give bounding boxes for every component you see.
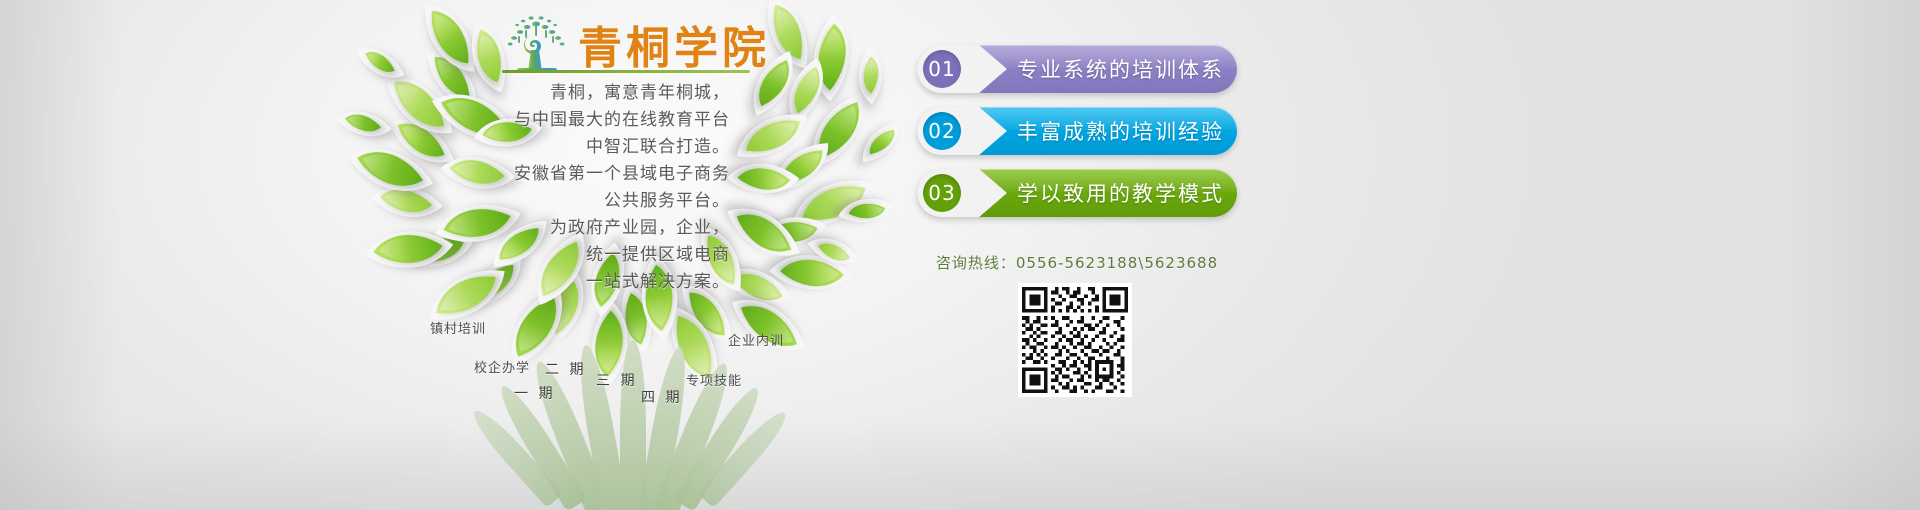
label-xiaoqi: 校企办学: [474, 357, 530, 376]
feature-card-02[interactable]: 02 丰富成熟的培训经验: [917, 107, 1237, 155]
feature-card-01[interactable]: 01 专业系统的培训体系: [917, 45, 1237, 93]
label-qiye: 企业内训: [728, 330, 784, 349]
label-zhuanxiang: 专项技能: [686, 370, 742, 389]
hotline-text: 咨询热线：0556-5623188\5623688: [917, 252, 1237, 273]
leaf: [365, 45, 395, 79]
card-label: 丰富成熟的培训经验: [1017, 107, 1225, 155]
brand-divider: [502, 70, 750, 73]
card-number-badge: 01: [923, 50, 961, 88]
leaf: [428, 11, 471, 64]
leaf: [503, 297, 569, 357]
leaf: [746, 113, 800, 159]
banner-canvas: 青桐学院 青桐，寓意青年桐城， 与中国最大的在线教育平台 中智汇联合打造。 安徽…: [0, 0, 1920, 510]
intro-paragraph: 青桐，寓意青年桐城， 与中国最大的在线教育平台 中智汇联合打造。 安徽省第一个县…: [430, 80, 730, 296]
card-number-badge: 02: [923, 112, 961, 150]
label-zhencun: 镇村培训: [430, 318, 486, 337]
card-label: 学以致用的教学模式: [1017, 169, 1225, 217]
leaf: [866, 130, 897, 155]
label-stage-3: 三 期: [596, 370, 637, 390]
card-number-badge: 03: [923, 174, 961, 212]
brand-logo: 青桐学院: [500, 6, 750, 84]
leaf: [853, 56, 888, 93]
label-stage-1: 一 期: [514, 383, 555, 403]
tree-logo-icon: [500, 10, 572, 72]
card-badge-holder: 02: [917, 107, 1013, 155]
leaf: [345, 104, 381, 141]
page-title: 青桐学院: [578, 12, 770, 76]
card-badge-holder: 01: [917, 45, 1013, 93]
card-label: 专业系统的培训体系: [1017, 45, 1225, 93]
label-stage-2: 二 期: [545, 359, 586, 379]
qr-code: [1018, 283, 1132, 397]
feature-card-03[interactable]: 03 学以致用的教学模式: [917, 169, 1237, 217]
card-badge-holder: 03: [917, 169, 1013, 217]
label-stage-4: 四 期: [641, 387, 682, 407]
feature-card-list: 01 专业系统的培训体系 02 丰富成熟的培训经验 03 学以致用的教学模式: [917, 45, 1237, 231]
